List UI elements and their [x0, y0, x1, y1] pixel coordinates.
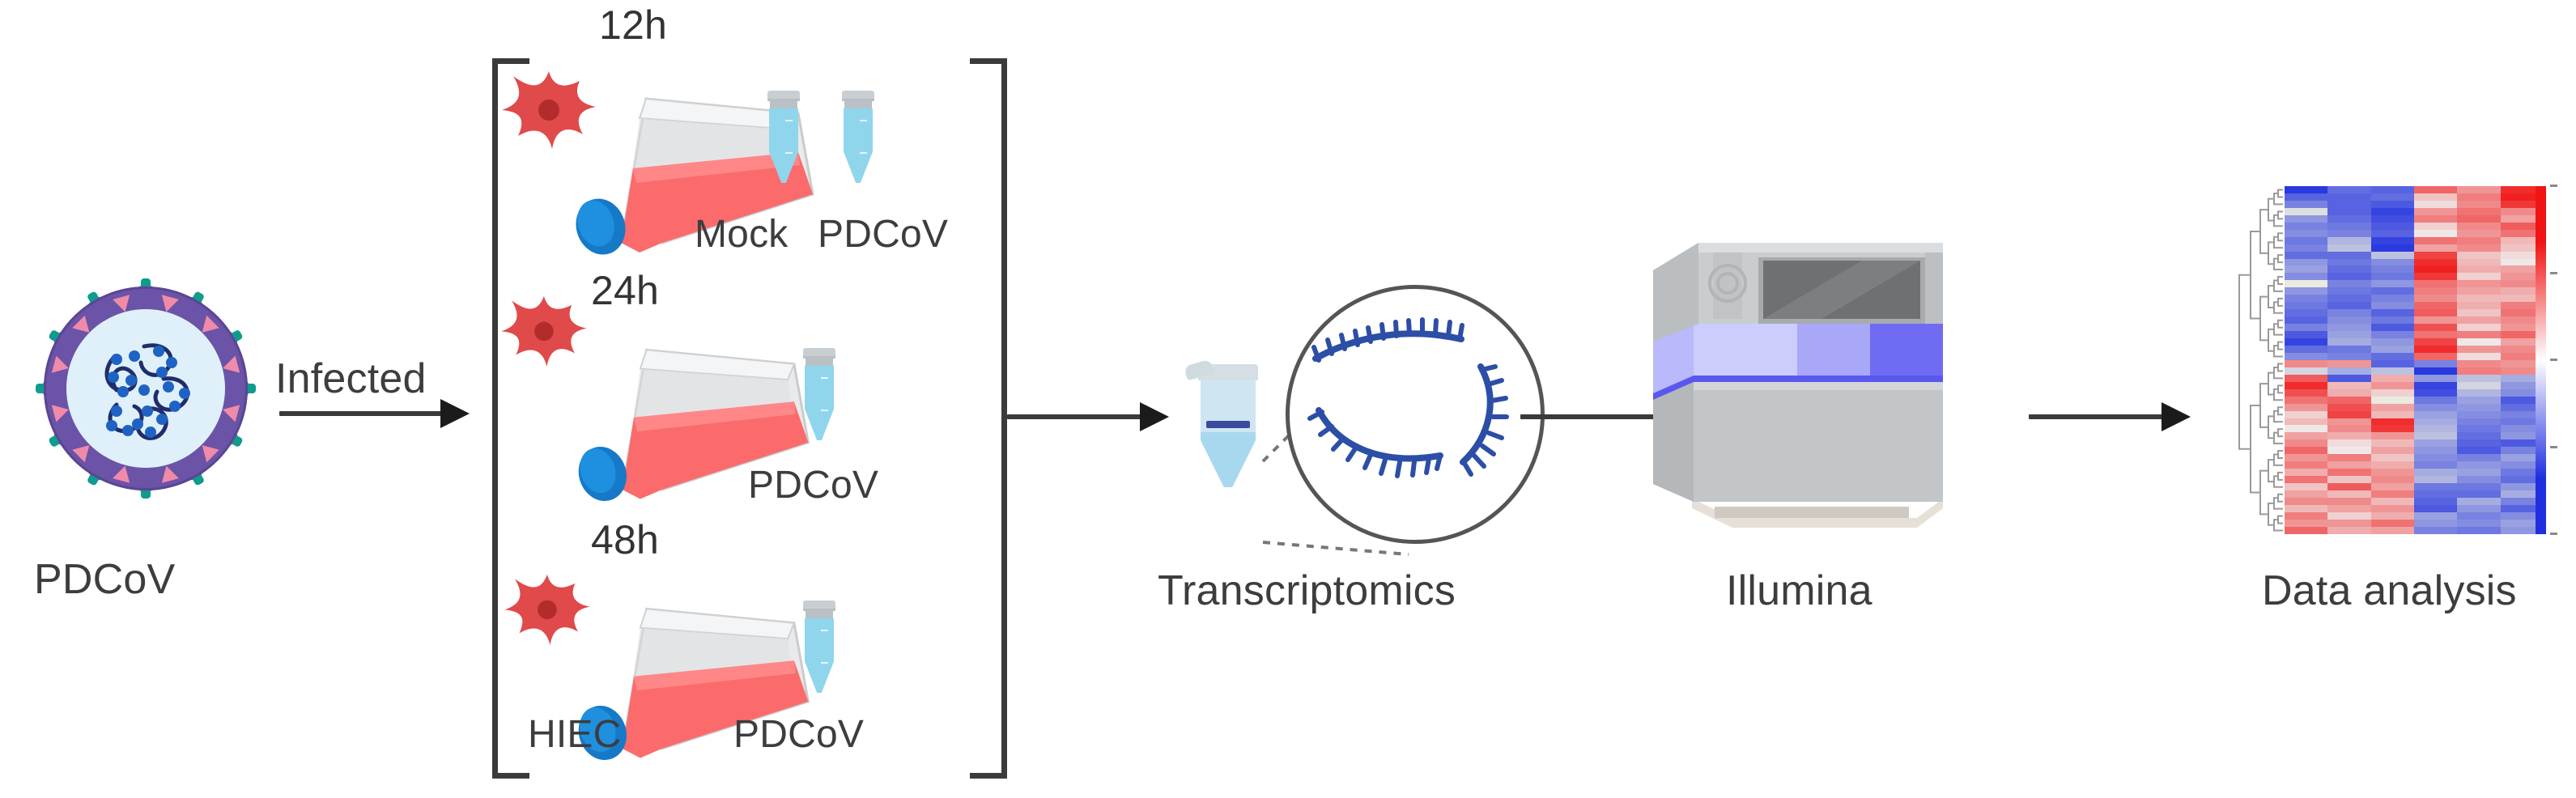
heatmap-cell	[2371, 498, 2414, 505]
heatmap-cell	[2327, 287, 2370, 295]
heatmap-cell	[2414, 208, 2457, 215]
heatmap-cell	[2327, 273, 2370, 280]
heatmap-cell	[2414, 461, 2457, 469]
rna-strand-icon	[1290, 289, 1532, 532]
heatmap-cell	[2457, 367, 2500, 375]
heatmap-cell	[2285, 252, 2327, 259]
heatmap-cell	[2414, 432, 2457, 439]
heatmap-cell	[2457, 316, 2500, 324]
heatmap-cell	[2285, 223, 2327, 230]
heatmap-cell	[2414, 439, 2457, 447]
heatmap-cell	[2285, 338, 2327, 346]
heatmap-cell	[2414, 280, 2457, 287]
heatmap-column	[2327, 186, 2370, 534]
heatmap-cell	[2414, 469, 2457, 476]
heatmap-cell	[2371, 469, 2414, 476]
workflow-figure: PDCoV Infected 12h	[0, 0, 2576, 798]
heatmap-cell	[2327, 404, 2370, 411]
heatmap-cell	[2457, 259, 2500, 266]
heatmap-cell	[2457, 432, 2500, 439]
heatmap-cell	[2327, 259, 2370, 266]
heatmap-cell	[2457, 418, 2500, 426]
heatmap-cell	[2414, 223, 2457, 230]
heatmap-cell	[2327, 439, 2370, 447]
tube-cap	[803, 601, 835, 611]
heatmap-cell	[2414, 302, 2457, 309]
sequencer-label: Illumina	[1726, 567, 1872, 615]
heatmap-cell	[2414, 259, 2457, 266]
heatmap-cell	[2371, 309, 2414, 316]
heatmap-cell	[2457, 360, 2500, 367]
colorbar-tick	[2550, 272, 2557, 274]
heatmap-cell	[2371, 418, 2414, 426]
heatmap-cell	[2457, 287, 2500, 295]
heatmap-cell	[2327, 432, 2370, 439]
heatmap-cell	[2371, 353, 2414, 360]
heatmap-cell	[2457, 215, 2500, 223]
heatmap-cell	[2285, 382, 2327, 389]
heatmap-cell	[2457, 201, 2500, 208]
heatmap-cell	[2327, 353, 2370, 360]
arrow-shaft	[2029, 414, 2163, 419]
tube-label-pdcov-48h: PDCoV	[733, 712, 864, 757]
heatmap-cell	[2414, 186, 2457, 193]
heatmap-cell	[2285, 432, 2327, 439]
heatmap-cell	[2371, 265, 2414, 273]
heatmap-cell	[2371, 252, 2414, 259]
analysis-label: Data analysis	[2262, 567, 2517, 615]
heatmap-cell	[2414, 411, 2457, 418]
heatmap-cell	[2371, 367, 2414, 375]
membrane-protein	[220, 355, 240, 376]
heatmap-cell	[2327, 230, 2370, 237]
membrane-protein	[113, 295, 134, 314]
heatmap-cell	[2457, 447, 2500, 454]
heatmap-cell	[2457, 454, 2500, 461]
heatmap-cell	[2371, 186, 2414, 193]
tube-label-pdcov-24h: PDCoV	[748, 463, 878, 507]
colorbar-tick	[2550, 446, 2557, 448]
heatmap-cell	[2457, 404, 2500, 411]
heatmap-cell	[2327, 280, 2370, 287]
heatmap-cell	[2414, 505, 2457, 512]
heatmap-cell	[2327, 418, 2370, 426]
heatmap-cell	[2285, 201, 2327, 208]
cell-line-label: HIEC	[528, 712, 621, 757]
heatmap-cell	[2327, 331, 2370, 338]
heatmap-cell	[2457, 280, 2500, 287]
heatmap-cell	[2285, 397, 2327, 404]
heatmap-cell	[2457, 186, 2500, 193]
heatmap-cell	[2327, 454, 2370, 461]
heatmap-cell	[2414, 331, 2457, 338]
heatmap-cell	[2414, 397, 2457, 404]
heatmap-cell	[2457, 302, 2500, 309]
heatmap-cell	[2457, 425, 2500, 432]
heatmap-cell	[2285, 375, 2327, 382]
heatmap-cell	[2371, 432, 2414, 439]
heatmap-cell	[2414, 512, 2457, 520]
heatmap-cell	[2285, 476, 2327, 483]
heatmap-cell	[2457, 397, 2500, 404]
heatmap-cell	[2371, 273, 2414, 280]
tube-body	[769, 108, 798, 183]
heatmap-cell	[2285, 287, 2327, 295]
heatmap-grid	[2285, 186, 2544, 534]
heatmap-cell	[2414, 252, 2457, 259]
heatmap-cell	[2285, 360, 2327, 367]
tube-body	[844, 108, 873, 183]
heatmap-cell	[2327, 483, 2370, 490]
membrane-protein	[52, 355, 71, 376]
heatmap-cell	[2285, 454, 2327, 461]
timepoint-label-12h: 12h	[599, 2, 667, 49]
heatmap-cell	[2414, 425, 2457, 432]
heatmap-cell	[2285, 505, 2327, 512]
heatmap-cell	[2371, 360, 2414, 367]
heatmap-cell	[2371, 425, 2414, 432]
heatmap-cell	[2371, 447, 2414, 454]
to-analysis-arrow	[2029, 413, 2191, 421]
heatmap-cell	[2285, 280, 2327, 287]
heatmap-cell	[2327, 252, 2370, 259]
tube-body	[805, 366, 834, 440]
membrane-protein	[158, 295, 179, 314]
heatmap-cell	[2371, 208, 2414, 215]
heatmap-cell	[2457, 439, 2500, 447]
arrow-shaft	[1007, 414, 1141, 419]
heatmap-cell	[2414, 346, 2457, 353]
bracket-vertical	[1001, 58, 1007, 779]
tube-neck	[844, 101, 872, 108]
membrane-protein	[220, 401, 240, 422]
heatmap-cell	[2285, 193, 2327, 201]
membrane-protein	[113, 464, 134, 483]
microtube-icon	[842, 91, 874, 183]
heatmap-cell	[2327, 425, 2370, 432]
colorbar-ticks	[2550, 183, 2574, 537]
heatmap-cell	[2457, 411, 2500, 418]
membrane-protein	[72, 439, 96, 462]
heatmap-cell	[2457, 309, 2500, 316]
heatmap-colorbar	[2536, 186, 2546, 534]
heatmap-cell	[2371, 512, 2414, 520]
heatmap-cell	[2327, 527, 2370, 534]
heatmap-cell	[2457, 331, 2500, 338]
heatmap-cell	[2285, 237, 2327, 244]
heatmap-cell	[2285, 324, 2327, 331]
infected-label: Infected	[275, 354, 427, 403]
bracket-bottom-arm	[492, 773, 529, 779]
heatmap-cell	[2371, 201, 2414, 208]
heatmap-cell	[2285, 512, 2327, 520]
heatmap-cell	[2371, 280, 2414, 287]
heatmap-cell	[2327, 215, 2370, 223]
to-transcriptomics-arrow	[1007, 413, 1169, 421]
heatmap-cell	[2414, 338, 2457, 346]
heatmap-cell	[2414, 295, 2457, 302]
bracket-top-arm	[492, 58, 529, 64]
heatmap-cell	[2327, 223, 2370, 230]
bracket-bottom-arm	[970, 773, 1007, 779]
heatmap-cell	[2327, 447, 2370, 454]
heatmap-cell	[2371, 295, 2414, 302]
heatmap-cell	[2285, 309, 2327, 316]
heatmap-cell	[2414, 476, 2457, 483]
membrane-protein	[196, 316, 219, 339]
heatmap-cell	[2327, 512, 2370, 520]
heatmap-cell	[2327, 193, 2370, 201]
heatmap-cell	[2285, 367, 2327, 375]
heatmap-cell	[2457, 389, 2500, 397]
colorbar-tick	[2550, 359, 2557, 361]
tube-neck	[806, 359, 833, 366]
heatmap-cell	[2414, 520, 2457, 527]
heatmap-cell	[2414, 454, 2457, 461]
heatmap-cell	[2414, 201, 2457, 208]
heatmap-cell	[2285, 418, 2327, 426]
heatmap-cell	[2414, 244, 2457, 252]
tube-cap	[767, 91, 800, 101]
virus-label: PDCoV	[34, 555, 175, 604]
heatmap-cell	[2285, 469, 2327, 476]
heatmap-cell	[2371, 331, 2414, 338]
heatmap-cell	[2327, 367, 2370, 375]
heatmap-icon	[2236, 186, 2560, 534]
heatmap-cell	[2457, 237, 2500, 244]
heatmap-cell	[2457, 265, 2500, 273]
heatmap-cell	[2327, 295, 2370, 302]
heatmap-cell	[2414, 324, 2457, 331]
heatmap-cell	[2457, 469, 2500, 476]
heatmap-column	[2414, 186, 2457, 534]
heatmap-cell	[2371, 287, 2414, 295]
timepoint-label-48h: 48h	[591, 516, 659, 563]
heatmap-cell	[2371, 490, 2414, 498]
heatmap-cell	[2327, 360, 2370, 367]
heatmap-cell	[2327, 498, 2370, 505]
heatmap-cell	[2285, 215, 2327, 223]
heatmap-cell	[2285, 265, 2327, 273]
heatmap-cell	[2371, 520, 2414, 527]
heatmap-cell	[2414, 404, 2457, 411]
arrow-head-icon	[2162, 402, 2191, 431]
heatmap-cell	[2327, 346, 2370, 353]
heatmap-cell	[2285, 346, 2327, 353]
colorbar-tick	[2550, 533, 2557, 535]
heatmap-cell	[2371, 461, 2414, 469]
membrane-protein	[52, 401, 71, 422]
tube-label-mock: Mock	[695, 212, 788, 257]
heatmap-cell	[2457, 346, 2500, 353]
heatmap-cell	[2371, 382, 2414, 389]
heatmap-cell	[2414, 353, 2457, 360]
membrane-protein	[72, 316, 96, 339]
heatmap-cell	[2371, 302, 2414, 309]
heatmap-cell	[2327, 520, 2370, 527]
heatmap-cell	[2371, 483, 2414, 490]
heatmap-cell	[2414, 498, 2457, 505]
heatmap-cell	[2285, 259, 2327, 266]
microtube-icon	[767, 91, 800, 183]
membrane-protein	[158, 464, 179, 483]
heatmap-cell	[2327, 461, 2370, 469]
heatmap-cell	[2414, 193, 2457, 201]
tube-label-pdcov-12h: PDCoV	[818, 212, 948, 257]
magnifier-circle-icon	[1286, 285, 1545, 544]
heatmap-cell	[2285, 498, 2327, 505]
heatmap-cell	[2285, 404, 2327, 411]
membrane-protein	[196, 439, 219, 462]
heatmap-cell	[2414, 309, 2457, 316]
arrow-shaft	[279, 411, 442, 416]
heatmap-cell	[2457, 490, 2500, 498]
heatmap-cell	[2327, 397, 2370, 404]
heatmap-cell	[2457, 223, 2500, 230]
heatmap-cell	[2285, 316, 2327, 324]
tube-cap	[842, 91, 874, 101]
heatmap-cell	[2327, 244, 2370, 252]
heatmap-cell	[2457, 324, 2500, 331]
bracket-top-arm	[970, 58, 1007, 64]
heatmap-cell	[2371, 237, 2414, 244]
heatmap-cell	[2371, 223, 2414, 230]
heatmap-cell	[2285, 353, 2327, 360]
microtube-icon	[803, 601, 835, 693]
heatmap-cell	[2285, 447, 2327, 454]
heatmap-cell	[2457, 353, 2500, 360]
heatmap-cell	[2371, 338, 2414, 346]
heatmap-cell	[2285, 186, 2327, 193]
transcriptomics-label: Transcriptomics	[1158, 567, 1456, 615]
heatmap-cell	[2414, 389, 2457, 397]
coronavirus-icon	[24, 267, 267, 510]
heatmap-cell	[2414, 527, 2457, 534]
heatmap-cell	[2457, 295, 2500, 302]
heatmap-cell	[2327, 208, 2370, 215]
arrow-head-icon	[1140, 402, 1169, 431]
heatmap-cell	[2457, 244, 2500, 252]
heatmap-cell	[2285, 483, 2327, 490]
heatmap-cell	[2414, 316, 2457, 324]
heatmap-cell	[2285, 490, 2327, 498]
heatmap-cell	[2371, 527, 2414, 534]
heatmap-cell	[2457, 498, 2500, 505]
heatmap-cell	[2285, 411, 2327, 418]
timecourse-bracket-right	[970, 58, 1007, 779]
infected-arrow	[279, 410, 470, 418]
heatmap-cell	[2327, 411, 2370, 418]
heatmap-cell	[2285, 461, 2327, 469]
heatmap-cell	[2414, 360, 2457, 367]
heatmap-cell	[2371, 439, 2414, 447]
dendrogram	[2236, 186, 2285, 534]
heatmap-cell	[2285, 389, 2327, 397]
timepoint-label-24h: 24h	[591, 267, 659, 314]
heatmap-cell	[2414, 215, 2457, 223]
heatmap-cell	[2371, 324, 2414, 331]
heatmap-cell	[2414, 287, 2457, 295]
heatmap-cell	[2414, 490, 2457, 498]
heatmap-cell	[2285, 244, 2327, 252]
heatmap-cell	[2371, 476, 2414, 483]
heatmap-cell	[2457, 461, 2500, 469]
heatmap-cell	[2285, 230, 2327, 237]
heatmap-cell	[2371, 193, 2414, 201]
heatmap-cell	[2371, 404, 2414, 411]
heatmap-cell	[2285, 208, 2327, 215]
heatmap-cell	[2414, 265, 2457, 273]
membrane-protein-group	[24, 267, 267, 510]
heatmap-cell	[2327, 316, 2370, 324]
sequencer-icon	[1635, 217, 1975, 545]
heatmap-cell	[2371, 397, 2414, 404]
arrow-head-icon	[440, 399, 470, 428]
bracket-vertical	[492, 58, 498, 779]
heatmap-cell	[2457, 512, 2500, 520]
heatmap-cell	[2371, 346, 2414, 353]
heatmap-cell	[2457, 476, 2500, 483]
heatmap-cell	[2457, 193, 2500, 201]
heatmap-cell	[2414, 447, 2457, 454]
heatmap-cell	[2371, 316, 2414, 324]
heatmap-cell	[2457, 520, 2500, 527]
heatmap-cell	[2327, 469, 2370, 476]
heatmap-cell	[2285, 331, 2327, 338]
heatmap-cell	[2457, 338, 2500, 346]
heatmap-cell	[2457, 483, 2500, 490]
heatmap-cell	[2371, 389, 2414, 397]
heatmap-cell	[2457, 527, 2500, 534]
heatmap-cell	[2457, 273, 2500, 280]
heatmap-cell	[2414, 230, 2457, 237]
heatmap-cell	[2457, 505, 2500, 512]
heatmap-column	[2371, 186, 2414, 534]
heatmap-cell	[2371, 454, 2414, 461]
heatmap-cell	[2457, 382, 2500, 389]
heatmap-cell	[2285, 295, 2327, 302]
heatmap-cell	[2414, 418, 2457, 426]
heatmap-cell	[2414, 237, 2457, 244]
heatmap-cell	[2285, 273, 2327, 280]
heatmap-cell	[2285, 520, 2327, 527]
heatmap-cell	[2414, 273, 2457, 280]
timecourse-bracket-left	[492, 58, 529, 779]
heatmap-cell	[2414, 375, 2457, 382]
heatmap-cell	[2327, 338, 2370, 346]
tube-neck	[806, 611, 833, 618]
heatmap-cell	[2327, 302, 2370, 309]
heatmap-cell	[2327, 389, 2370, 397]
tube-body	[805, 618, 834, 693]
heatmap-cell	[2457, 375, 2500, 382]
heatmap-cell	[2285, 302, 2327, 309]
heatmap-cell	[2327, 186, 2370, 193]
heatmap-cell	[2327, 324, 2370, 331]
heatmap-cell	[2414, 483, 2457, 490]
heatmap-cell	[2327, 375, 2370, 382]
heatmap-cell	[2371, 375, 2414, 382]
heatmap-cell	[2327, 237, 2370, 244]
heatmap-column	[2457, 186, 2500, 534]
heatmap-column	[2285, 186, 2327, 534]
heatmap-cell	[2371, 411, 2414, 418]
heatmap-cell	[2327, 201, 2370, 208]
microtube-icon	[803, 348, 835, 440]
heatmap-cell	[2457, 208, 2500, 215]
heatmap-cell	[2457, 252, 2500, 259]
heatmap-cell	[2414, 382, 2457, 389]
